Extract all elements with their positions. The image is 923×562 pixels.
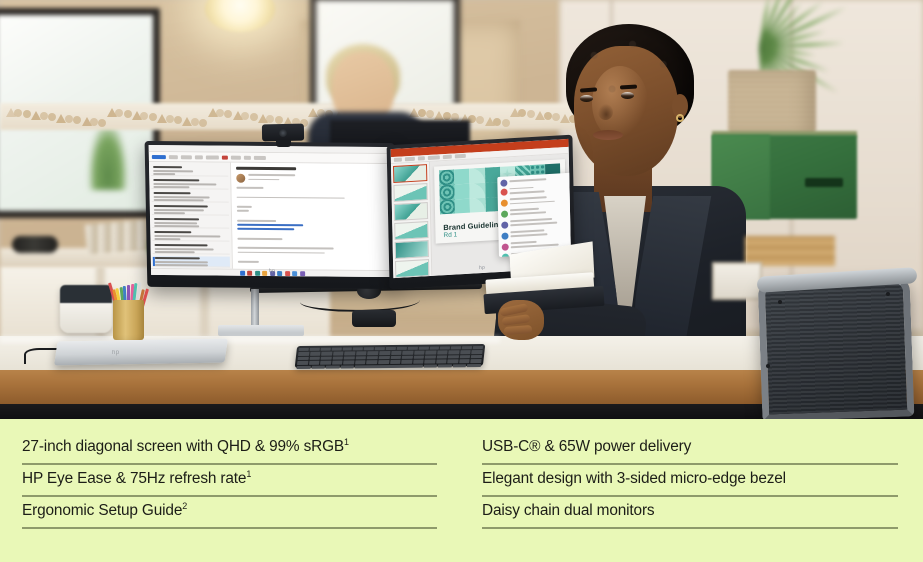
keyboard-key[interactable] [473, 346, 483, 349]
hp-logo: hp [269, 268, 275, 274]
pattern-cell [455, 198, 470, 214]
keyboard-key[interactable] [436, 360, 447, 364]
keyboard-key[interactable] [425, 351, 436, 355]
keyboard-key[interactable] [407, 347, 417, 350]
taskbar-icon[interactable] [300, 271, 305, 276]
keyboard-key[interactable] [401, 360, 412, 364]
books-stack [85, 219, 149, 254]
mail-sender [236, 174, 386, 184]
keyboard-key[interactable] [321, 356, 332, 360]
monitor-pole [251, 289, 259, 328]
keyboard-key[interactable] [340, 365, 354, 369]
ribbon-button[interactable] [206, 155, 219, 159]
mail-message-list[interactable] [149, 162, 233, 269]
keyboard-key[interactable] [378, 360, 389, 364]
keyboard-key[interactable] [402, 356, 413, 360]
keyboard-key[interactable] [375, 347, 385, 350]
keyboard-key[interactable] [344, 352, 355, 356]
keyboard-key[interactable] [355, 364, 423, 368]
keyboard-key[interactable] [414, 351, 425, 355]
keyboard-key[interactable] [331, 348, 341, 351]
woven-basket [728, 70, 816, 136]
marketing-image: hp Brand [0, 0, 923, 562]
keyboard-key[interactable] [353, 347, 363, 350]
chat-panel[interactable] [497, 172, 571, 256]
feature-divider [22, 527, 437, 529]
desktop-mini-pc [352, 310, 396, 327]
ribbon-button[interactable] [244, 155, 251, 159]
feature-item: Elegant design with 3-sided micro-edge b… [482, 465, 898, 497]
feature-item: Ergonomic Setup Guide2 [22, 497, 437, 529]
keyboard-key[interactable] [448, 355, 459, 359]
slide-thumbnail-pane[interactable] [391, 162, 433, 278]
keyboard-key[interactable] [309, 348, 319, 351]
keyboard-key[interactable] [418, 347, 428, 350]
ribbon-button[interactable] [443, 155, 452, 160]
keyboard-key[interactable] [386, 347, 396, 350]
keyboard-key[interactable] [367, 356, 378, 360]
keyboard-key[interactable] [425, 355, 436, 359]
keyboard-key[interactable] [453, 364, 467, 368]
footnote-marker: 2 [182, 501, 187, 511]
keyboard-key[interactable] [320, 361, 331, 365]
mail-subject [236, 167, 296, 171]
monitor-stand-base [218, 325, 304, 336]
avatar [501, 210, 508, 217]
keyboard-key[interactable] [342, 347, 352, 350]
mail-list-item[interactable] [152, 204, 230, 216]
keyboard-key[interactable] [297, 361, 308, 365]
keyboard-key[interactable] [413, 360, 424, 364]
avatar [501, 243, 508, 250]
keyboard-key[interactable] [379, 351, 390, 355]
keyboard-key[interactable] [460, 355, 471, 359]
keyboard-key[interactable] [298, 357, 309, 361]
webcam [262, 124, 304, 142]
mail-list-item[interactable] [152, 217, 230, 229]
keyboard[interactable] [295, 344, 486, 368]
avatar [500, 179, 507, 186]
keyboard-key[interactable] [355, 360, 366, 364]
pattern-cell [470, 182, 485, 198]
slide-thumbnail[interactable] [395, 240, 429, 259]
keyboard-key[interactable] [472, 350, 483, 354]
taskbar-icon[interactable] [247, 271, 252, 276]
mail-list-item[interactable] [151, 165, 229, 177]
slide-subtitle: Rd 1 [443, 232, 457, 240]
pattern-cell [439, 169, 454, 185]
keyboard-key[interactable] [390, 360, 401, 364]
keyboard-key[interactable] [459, 359, 470, 363]
office-chair-back [758, 275, 915, 419]
woman-hair-texture [566, 24, 694, 136]
mail-body-text [237, 187, 389, 270]
feature-text: Daisy chain dual monitors [482, 497, 898, 527]
keyboard-key[interactable] [309, 357, 320, 361]
taskbar-icon[interactable] [240, 271, 245, 276]
pattern-cell [470, 197, 485, 213]
avatar [236, 174, 245, 183]
keyboard-key[interactable] [364, 347, 374, 350]
keyboard-key[interactable] [438, 364, 452, 368]
hp-logo: hp [479, 265, 485, 271]
webcam-mount [276, 140, 291, 147]
keyboard-key[interactable] [436, 355, 447, 359]
keyboard-key[interactable] [448, 359, 459, 363]
chair-rivet [886, 292, 890, 296]
feature-column-left: 27-inch diagonal screen with QHD & 99% s… [0, 419, 462, 562]
keyboard-key[interactable] [355, 356, 366, 360]
closed-laptop [54, 339, 228, 366]
keyboard-key[interactable] [367, 352, 378, 356]
coffee-mug [60, 285, 112, 333]
taskbar-icon[interactable] [277, 271, 282, 276]
keyboard-key[interactable] [391, 351, 402, 355]
footnote-marker: 1 [344, 437, 349, 447]
keyboard-key[interactable] [451, 346, 461, 349]
feature-item: 27-inch diagonal screen with QHD & 99% s… [22, 433, 437, 465]
left-monitor: hp [145, 141, 398, 289]
feature-list-panel: 27-inch diagonal screen with QHD & 99% s… [0, 419, 923, 562]
keyboard-key[interactable] [320, 348, 330, 351]
window-plant [88, 120, 128, 190]
ribbon-button[interactable] [169, 155, 178, 159]
keyboard-key[interactable] [310, 352, 321, 356]
chair-rivet [766, 364, 770, 368]
ribbon-button[interactable] [428, 155, 440, 160]
feature-item: HP Eye Ease & 75Hz refresh rate1 [22, 465, 437, 497]
pattern-cell [470, 168, 485, 184]
mail-list-item[interactable] [152, 230, 230, 242]
feature-item: USB-C® & 65W power delivery [482, 433, 898, 465]
keyboard-key[interactable] [471, 355, 482, 359]
avatar [500, 189, 507, 196]
ribbon-button[interactable] [405, 157, 415, 162]
keyboard-key[interactable] [413, 355, 424, 359]
keyboard-key[interactable] [379, 356, 390, 360]
picture-frame [712, 262, 762, 300]
keyboard-key[interactable] [471, 359, 482, 363]
keyboard-key[interactable] [437, 351, 448, 355]
cabinet-handle [805, 178, 843, 187]
sunglasses [12, 236, 58, 253]
ribbon-new-mail-button[interactable] [152, 154, 166, 158]
keyboard-key[interactable] [429, 346, 439, 349]
slide-thumbnail[interactable] [393, 183, 427, 202]
chair-rivet [778, 300, 782, 304]
keyboard-key[interactable] [298, 352, 309, 356]
left-monitor-screen[interactable]: hp [149, 145, 394, 277]
ribbon-button[interactable] [455, 154, 466, 159]
pattern-cell [455, 183, 470, 199]
feature-text: Elegant design with 3-sided micro-edge b… [482, 465, 898, 495]
taskbar-icon[interactable] [292, 271, 297, 276]
pattern-cell [455, 168, 470, 184]
slide-thumbnail[interactable] [393, 164, 427, 183]
keyboard-key[interactable] [462, 346, 472, 349]
keyboard-key[interactable] [332, 356, 343, 360]
mail-list-item[interactable] [153, 256, 231, 268]
feature-item: Daisy chain dual monitors [482, 497, 898, 529]
avatar [501, 221, 508, 228]
slide-thumbnail[interactable] [394, 202, 428, 221]
feature-divider [482, 527, 898, 529]
feature-column-right: USB-C® & 65W power deliveryElegant desig… [462, 419, 923, 562]
keyboard-key[interactable] [356, 352, 367, 356]
keyboard-key[interactable] [344, 356, 355, 360]
avatar [500, 200, 507, 207]
keyboard-key[interactable] [402, 351, 413, 355]
ribbon-button[interactable] [254, 155, 266, 159]
keyboard-key[interactable] [390, 356, 401, 360]
keyboard-key[interactable] [321, 352, 332, 356]
keyboard-key[interactable] [440, 346, 450, 349]
ribbon-button[interactable] [394, 158, 402, 162]
pattern-cell [440, 199, 455, 215]
footnote-marker: 1 [246, 469, 251, 479]
keyboard-key[interactable] [366, 360, 377, 364]
keyboard-key[interactable] [297, 365, 311, 369]
taskbar-icon[interactable] [285, 271, 290, 276]
keyboard-key[interactable] [449, 351, 460, 355]
webcam-lens-icon [279, 128, 287, 136]
keyboard-key[interactable] [309, 361, 320, 365]
taskbar-icon[interactable] [255, 271, 260, 276]
ribbon-button[interactable] [418, 156, 425, 160]
mail-reading-pane [231, 163, 393, 270]
keyboard-key[interactable] [467, 364, 481, 368]
slide-thumbnail[interactable] [395, 259, 429, 278]
ribbon-button[interactable] [195, 155, 203, 159]
keyboard-key[interactable] [311, 365, 325, 369]
mail-body [149, 162, 393, 270]
ribbon-button[interactable] [181, 155, 192, 159]
keyboard-key[interactable] [397, 347, 407, 350]
slide-thumbnail[interactable] [394, 221, 428, 240]
keyboard-key[interactable] [326, 365, 340, 369]
feature-text: USB-C® & 65W power delivery [482, 433, 898, 463]
ribbon-button[interactable] [231, 155, 241, 159]
mail-list-item[interactable] [151, 178, 229, 190]
keyboard-key[interactable] [332, 361, 343, 365]
product-lifestyle-photo: hp Brand [0, 0, 923, 419]
pencil-cup [113, 300, 144, 340]
keyboard-key[interactable] [424, 360, 435, 364]
keyboard-key[interactable] [460, 351, 471, 355]
keyboard-key[interactable] [424, 364, 438, 368]
avatar [501, 232, 508, 239]
mail-list-item[interactable] [152, 191, 230, 203]
keyboard-key[interactable] [343, 361, 354, 365]
feature-text: 27-inch diagonal screen with QHD & 99% s… [22, 433, 437, 463]
taskbar-icon[interactable] [262, 271, 267, 276]
ribbon-delete-button[interactable] [222, 155, 228, 159]
keyboard-key[interactable] [333, 352, 344, 356]
laptop-logo: hp [112, 350, 130, 357]
feature-text: Ergonomic Setup Guide2 [22, 497, 437, 527]
keyboard-key[interactable] [299, 348, 309, 351]
pattern-cell [440, 184, 455, 200]
mail-list-item[interactable] [153, 243, 231, 255]
feature-text: HP Eye Ease & 75Hz refresh rate1 [22, 465, 437, 495]
